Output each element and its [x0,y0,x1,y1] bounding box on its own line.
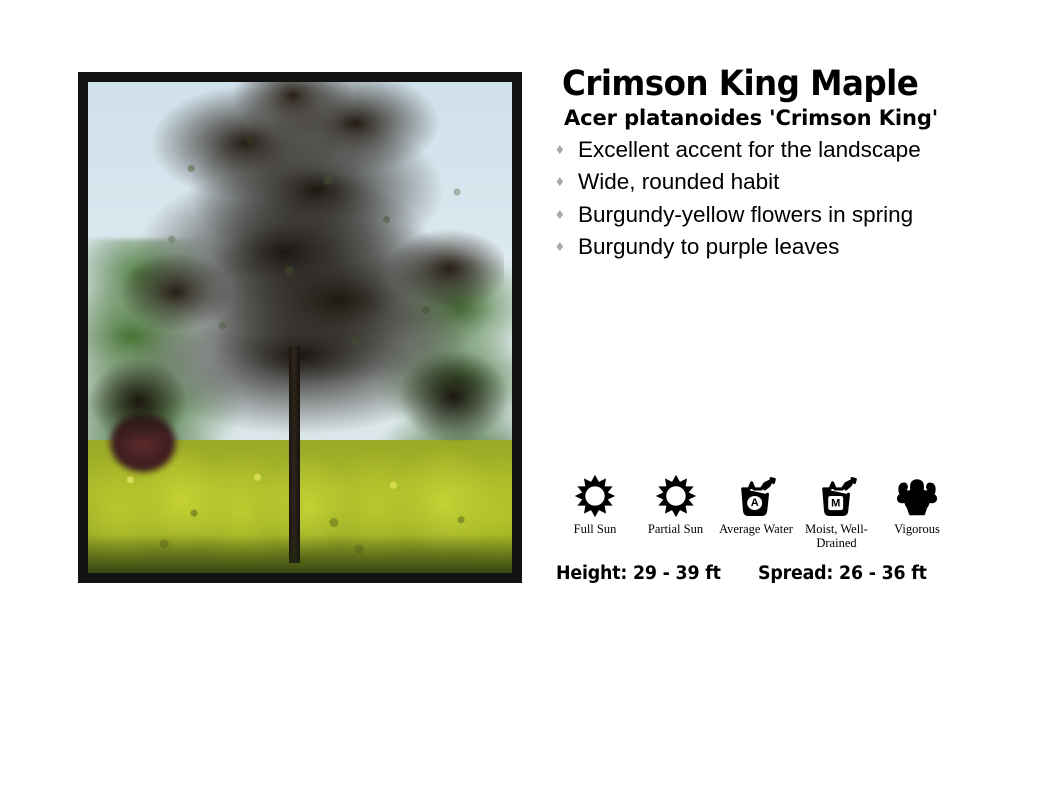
care-icon-vigorous: Vigorous [878,472,956,536]
care-icon-label: Partial Sun [637,522,715,536]
full-sun-icon [556,472,634,520]
care-icon-average-water: A Average Water [717,472,795,536]
care-icon-partial-sun: Partial Sun [637,472,715,536]
average-water-icon: A [717,472,795,520]
care-icon-strip: Full Sun Partial Sun A Average Wate [556,472,956,550]
list-item: ♦ Burgundy to purple leaves [556,231,1026,264]
photo-tree-trunk [289,347,300,563]
photo-canopy-lower-left [88,337,207,465]
partial-sun-icon [637,472,715,520]
care-icon-label: Moist, Well-Drained [798,522,876,550]
care-icon-full-sun: Full Sun [556,472,634,536]
photo-canopy-lower-right [376,328,512,465]
list-item: ♦ Burgundy-yellow flowers in spring [556,199,1026,232]
photo-hedge-shadow [88,534,512,573]
plant-photo-frame [78,72,522,583]
care-icon-moist-well-drained: M Moist, Well-Drained [798,472,876,550]
diamond-bullet-icon: ♦ [556,166,578,199]
list-item: ♦ Excellent accent for the landscape [556,134,1026,167]
botanical-name: Acer platanoides 'Crimson King' [564,106,1026,130]
feature-text: Burgundy-yellow flowers in spring [578,199,978,232]
care-icon-label: Average Water [717,522,795,536]
spread-value: Spread: 26 - 36 ft [758,563,927,584]
height-value: Height: 29 - 39 ft [556,563,721,584]
feature-text: Burgundy to purple leaves [578,231,978,264]
feature-text: Wide, rounded habit [578,166,978,199]
list-item: ♦ Wide, rounded habit [556,166,1026,199]
water-icon-letter: M [831,498,840,510]
feature-list: ♦ Excellent accent for the landscape ♦ W… [556,134,1026,264]
care-icon-label: Full Sun [556,522,634,536]
plant-photo [88,82,512,573]
water-icon-letter: A [751,497,759,509]
dimensions-row: Height: 29 - 39 ft Spread: 26 - 36 ft [556,563,938,584]
diamond-bullet-icon: ♦ [556,134,578,167]
moist-well-drained-icon: M [798,472,876,520]
page-title: Crimson King Maple [562,66,994,103]
diamond-bullet-icon: ♦ [556,231,578,264]
vigorous-icon [878,472,956,520]
feature-text: Excellent accent for the landscape [578,134,978,167]
diamond-bullet-icon: ♦ [556,199,578,232]
care-icon-label: Vigorous [878,522,956,536]
plant-info-panel: Crimson King Maple Acer platanoides 'Cri… [556,66,1026,264]
